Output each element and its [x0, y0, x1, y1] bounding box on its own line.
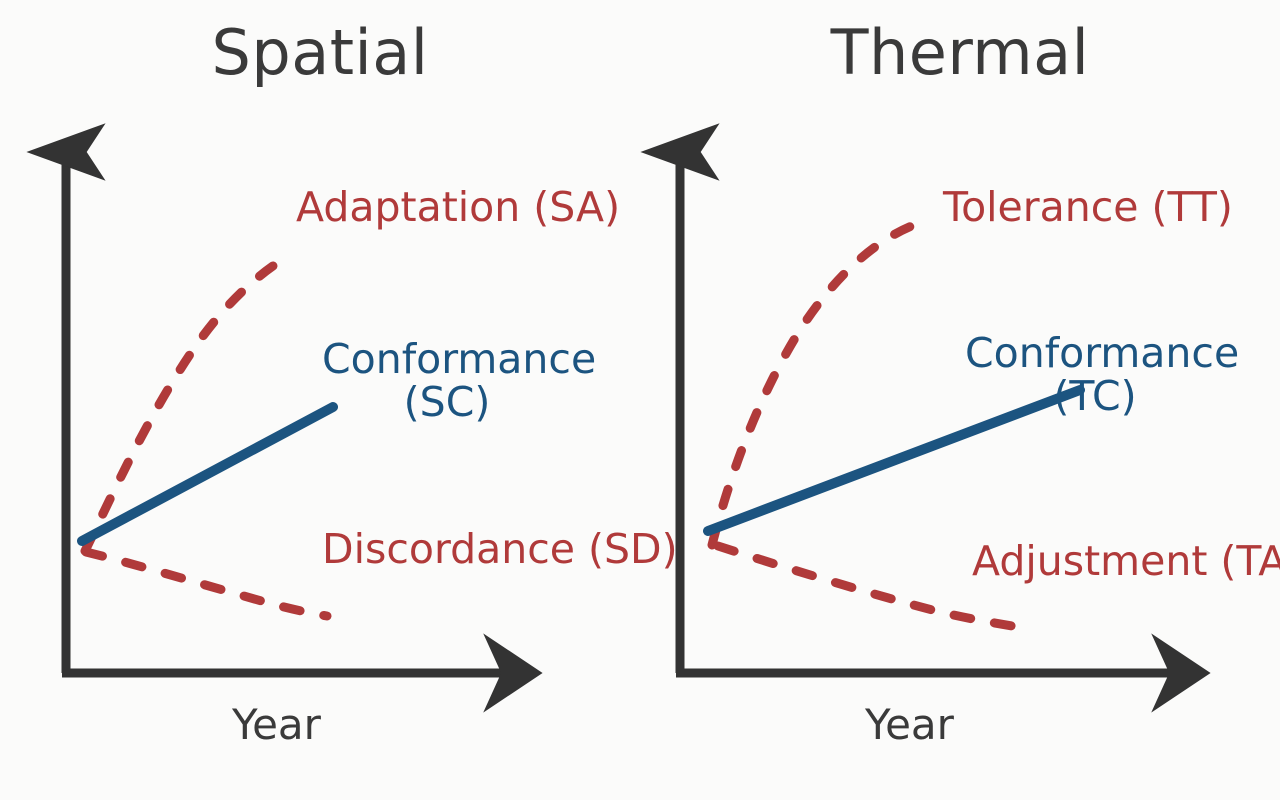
panel-spatial: Spatial Adaptation (SA) Conforman [0, 0, 640, 800]
series-label-discordance-sd: Discordance (SD) [322, 528, 678, 571]
panel-thermal: Thermal Tolerance (TT) Conformanc [640, 0, 1280, 800]
series-line-adaptation-sa [85, 254, 292, 551]
series-label-conformance-sc-name: Conformance [322, 335, 596, 383]
series-label-conformance-tc: Conformance(TC) [965, 332, 1225, 418]
series-label-adjustment-ta: Adjustment (TA) [972, 540, 1280, 583]
series-label-conformance-tc-name: Conformance [965, 329, 1239, 377]
x-axis-caption-spatial: Year [232, 700, 321, 749]
series-label-conformance-tc-code: (TC) [965, 375, 1225, 418]
series-label-tolerance-tt: Tolerance (TT) [943, 186, 1233, 229]
series-line-adjustment-ta [718, 546, 1012, 626]
series-label-conformance-sc-code: (SC) [322, 381, 572, 424]
series-label-adaptation-sa: Adaptation (SA) [296, 186, 620, 229]
series-label-conformance-sc: Conformance(SC) [322, 338, 572, 424]
x-axis-caption-thermal: Year [865, 700, 954, 749]
series-line-tolerance-tt [712, 220, 930, 545]
figure-canvas: Spatial Adaptation (SA) Conforman [0, 0, 1280, 800]
series-line-discordance-sd [86, 552, 327, 616]
